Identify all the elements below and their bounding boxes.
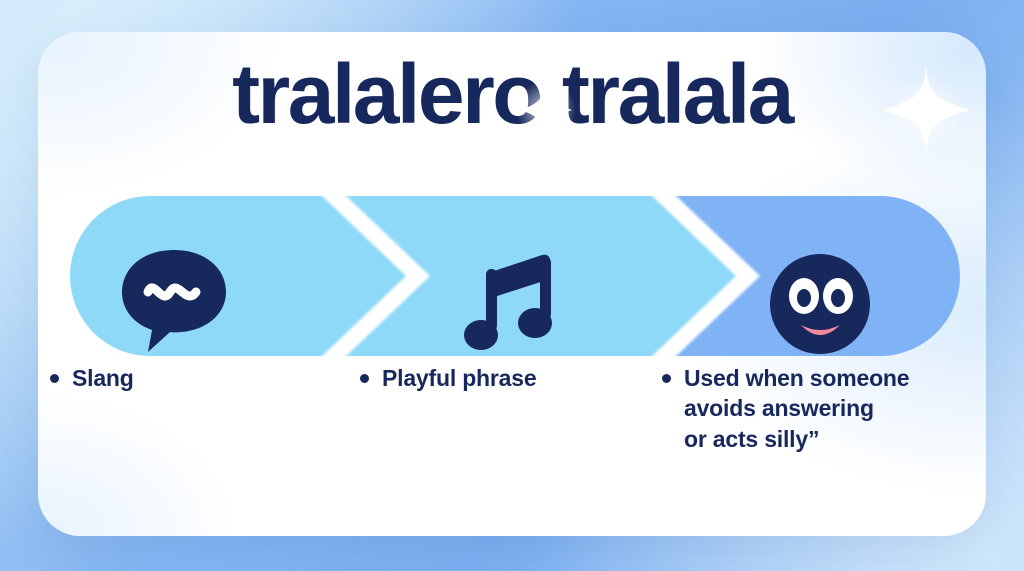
bullet-dot-icon	[662, 374, 671, 383]
bullet-item-3: Used when someone avoids answering or ac…	[662, 363, 932, 454]
bullet-item-2: Playful phrase	[360, 363, 640, 393]
page-title: tralalero tralala	[0, 52, 1024, 136]
bullet-text-1: Slang	[72, 363, 134, 393]
bullet-dot-icon	[50, 374, 59, 383]
bullet-text-2: Playful phrase	[382, 363, 536, 393]
bullet-dot-icon	[360, 374, 369, 383]
smiley-face-icon	[768, 252, 872, 356]
bullet-list: Slang Playful phrase Used when someone a…	[0, 363, 948, 483]
infographic-canvas: tralalero tralala	[0, 0, 1024, 571]
bullet-text-3: Used when someone avoids answering or ac…	[684, 363, 909, 454]
music-note-icon	[464, 245, 554, 357]
speech-bubble-icon	[118, 248, 230, 356]
bullet-item-1: Slang	[50, 363, 320, 393]
